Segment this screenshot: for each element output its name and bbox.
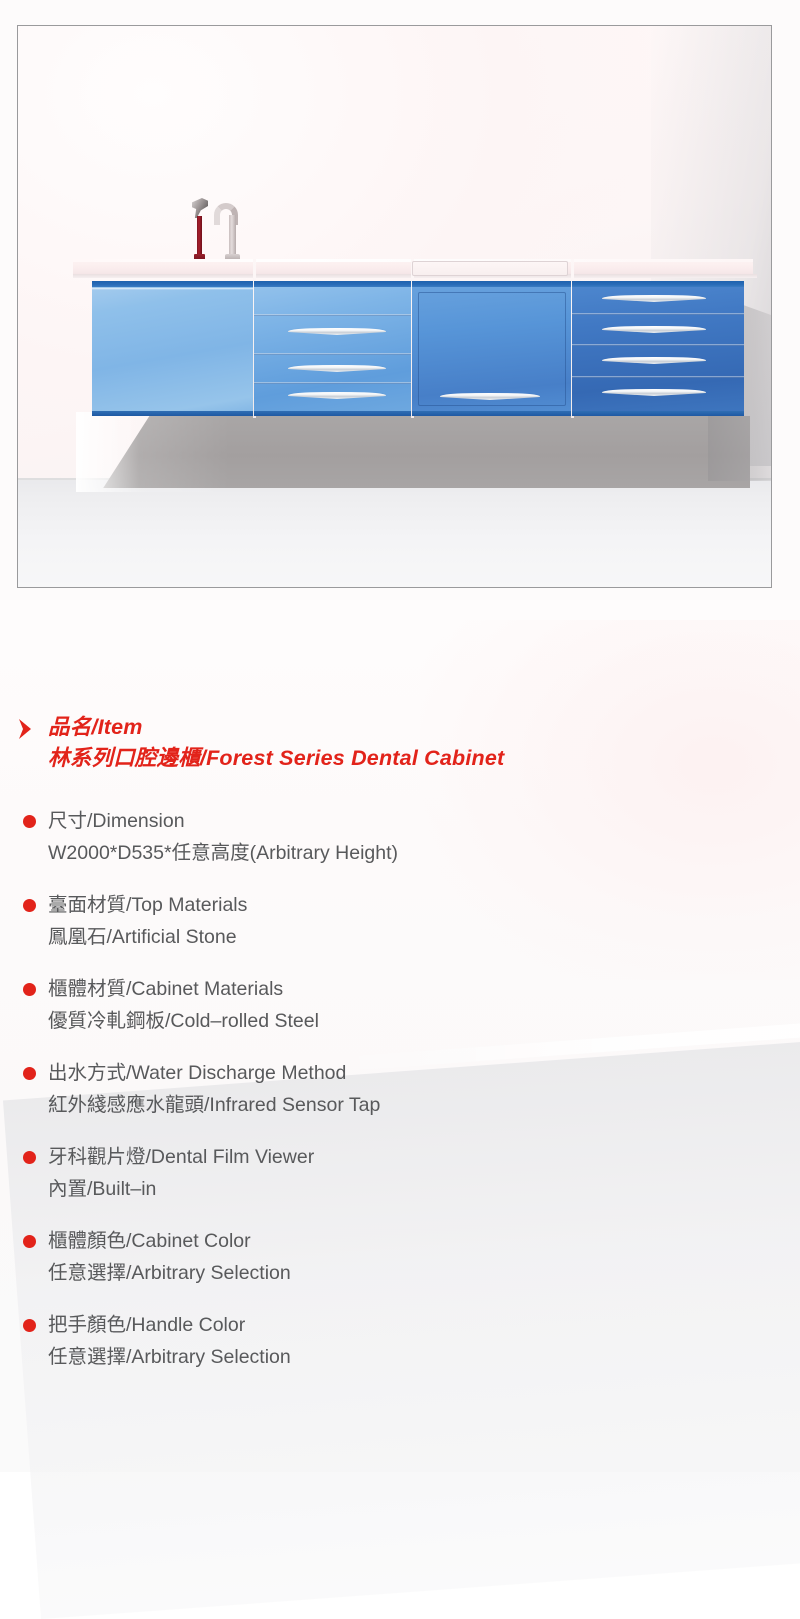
pullout-panel-frame — [418, 292, 566, 406]
spec-item-value: W2000*D535*任意高度(Arbitrary Height) — [48, 838, 800, 870]
spec-item: 牙科觀片燈/Dental Film Viewer 內置/Built–in — [0, 1142, 800, 1205]
sensor-tap-head — [192, 198, 208, 218]
spec-item-value: 紅外綫感應水龍頭/Infrared Sensor Tap — [48, 1090, 800, 1122]
spec-item-label: 尺寸/Dimension — [48, 806, 800, 838]
drawer-handle[interactable] — [602, 326, 706, 333]
spec-item-label: 把手顏色/Handle Color — [48, 1310, 800, 1342]
cabinet-section-pullout — [412, 281, 572, 416]
product-photo — [17, 25, 772, 588]
bullet-dot-icon — [23, 815, 36, 828]
product-spec-page: 品名/Item 林系列口腔邊櫃/Forest Series Dental Cab… — [0, 0, 800, 1472]
drawer-seam — [572, 344, 744, 346]
cabinet-section-three-drawers — [254, 281, 412, 416]
spec-item: 出水方式/Water Discharge Method 紅外綫感應水龍頭/Inf… — [0, 1058, 800, 1121]
bullet-dot-icon — [23, 899, 36, 912]
spec-item-label: 櫃體材質/Cabinet Materials — [48, 974, 800, 1006]
spec-item: 尺寸/Dimension W2000*D535*任意高度(Arbitrary H… — [0, 806, 800, 869]
spec-item-label: 臺面材質/Top Materials — [48, 890, 800, 922]
drawer-handle[interactable] — [602, 389, 706, 396]
specification-list: 品名/Item 林系列口腔邊櫃/Forest Series Dental Cab… — [0, 712, 800, 1394]
cabinet-body — [92, 281, 744, 416]
spec-item-label: 出水方式/Water Discharge Method — [48, 1058, 800, 1090]
bullet-dot-icon — [23, 1319, 36, 1332]
section-bottom-trim — [572, 411, 744, 416]
spec-item: 櫃體顏色/Cabinet Color 任意選擇/Arbitrary Select… — [0, 1226, 800, 1289]
spec-item-value: 內置/Built–in — [48, 1174, 800, 1206]
section-top-trim — [92, 281, 254, 287]
section-top-trim — [254, 281, 412, 287]
infrared-sensor-tap-icon — [192, 198, 208, 262]
drawer-seam — [572, 376, 744, 378]
spec-item-label: 牙科觀片燈/Dental Film Viewer — [48, 1142, 800, 1174]
drawer-handle[interactable] — [288, 392, 386, 399]
cabinet-section-four-drawers — [572, 281, 744, 416]
drawer-handle[interactable] — [602, 295, 706, 302]
drawer-seam — [254, 382, 412, 384]
spec-item: 把手顏色/Handle Color 任意選擇/Arbitrary Selecti… — [0, 1310, 800, 1373]
bullet-dot-icon — [23, 1067, 36, 1080]
spec-item-value: 鳳凰石/Artificial Stone — [48, 922, 800, 954]
spec-item: 櫃體材質/Cabinet Materials 優質冷軋鋼板/Cold–rolle… — [0, 974, 800, 1037]
section-bottom-trim — [92, 411, 254, 416]
drawer-handle[interactable] — [288, 328, 386, 335]
arrow-right-icon — [18, 718, 32, 740]
spec-item-value: 任意選擇/Arbitrary Selection — [48, 1258, 800, 1290]
drawer-handle[interactable] — [602, 357, 706, 364]
spec-item-label: 櫃體顏色/Cabinet Color — [48, 1226, 800, 1258]
spec-title-value: 林系列口腔邊櫃/Forest Series Dental Cabinet — [48, 743, 800, 774]
drawer-seam — [572, 313, 744, 315]
bullet-dot-icon — [23, 1235, 36, 1248]
spec-item: 臺面材質/Top Materials 鳳凰石/Artificial Stone — [0, 890, 800, 953]
bullet-dot-icon — [23, 983, 36, 996]
cabinet-section-sink — [92, 281, 254, 416]
drawer-handle[interactable] — [288, 365, 386, 372]
cabinet-shadow-fade — [76, 412, 772, 492]
photo-floor — [18, 478, 771, 588]
bullet-dot-icon — [23, 1151, 36, 1164]
section-bottom-trim — [254, 411, 412, 416]
section-bottom-trim — [412, 411, 572, 416]
counter-recess-drawer[interactable] — [412, 261, 568, 276]
sink-panel-seam — [92, 288, 254, 290]
section-top-trim — [572, 281, 744, 287]
spec-title-label: 品名/Item — [48, 712, 800, 743]
spec-item-value: 優質冷軋鋼板/Cold–rolled Steel — [48, 1006, 800, 1038]
section-top-trim — [412, 281, 572, 287]
sensor-tap-body — [197, 216, 202, 256]
drawer-seam — [254, 314, 412, 316]
drawer-seam — [254, 353, 412, 355]
spec-title-row: 品名/Item 林系列口腔邊櫃/Forest Series Dental Cab… — [0, 712, 800, 774]
spec-item-value: 任意選擇/Arbitrary Selection — [48, 1342, 800, 1374]
gooseneck-faucet-icon — [214, 203, 240, 261]
